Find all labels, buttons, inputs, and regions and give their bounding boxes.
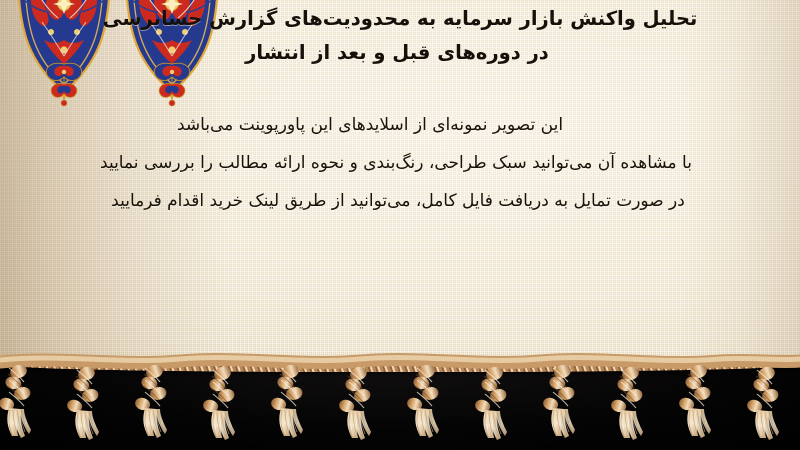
bottom-black-band (0, 362, 800, 450)
slide-canvas: تحلیل واکنش بازار سرمایه به محدودیت‌های … (0, 0, 800, 450)
slide-title: تحلیل واکنش بازار سرمایه به محدودیت‌های … (30, 2, 770, 70)
slide-body-line-2: با مشاهده آن می‌توانید سبک طراحی، رنگ‌بن… (20, 144, 780, 182)
rope-edge-trim (0, 356, 800, 372)
text-layer: تحلیل واکنش بازار سرمایه به محدودیت‌های … (0, 0, 800, 368)
slide-title-line-1: تحلیل واکنش بازار سرمایه به محدودیت‌های … (30, 2, 770, 36)
slide-body-line-1: این تصویر نمونه‌ای از اسلایدهای این پاور… (20, 106, 780, 144)
slide-body-line-3: در صورت تمایل به دریافت فایل کامل، می‌تو… (20, 182, 780, 220)
slide-title-line-2: در دوره‌های قبل و بعد از انتشار (30, 36, 770, 70)
slide-body: این تصویر نمونه‌ای از اسلایدهای این پاور… (20, 106, 780, 220)
